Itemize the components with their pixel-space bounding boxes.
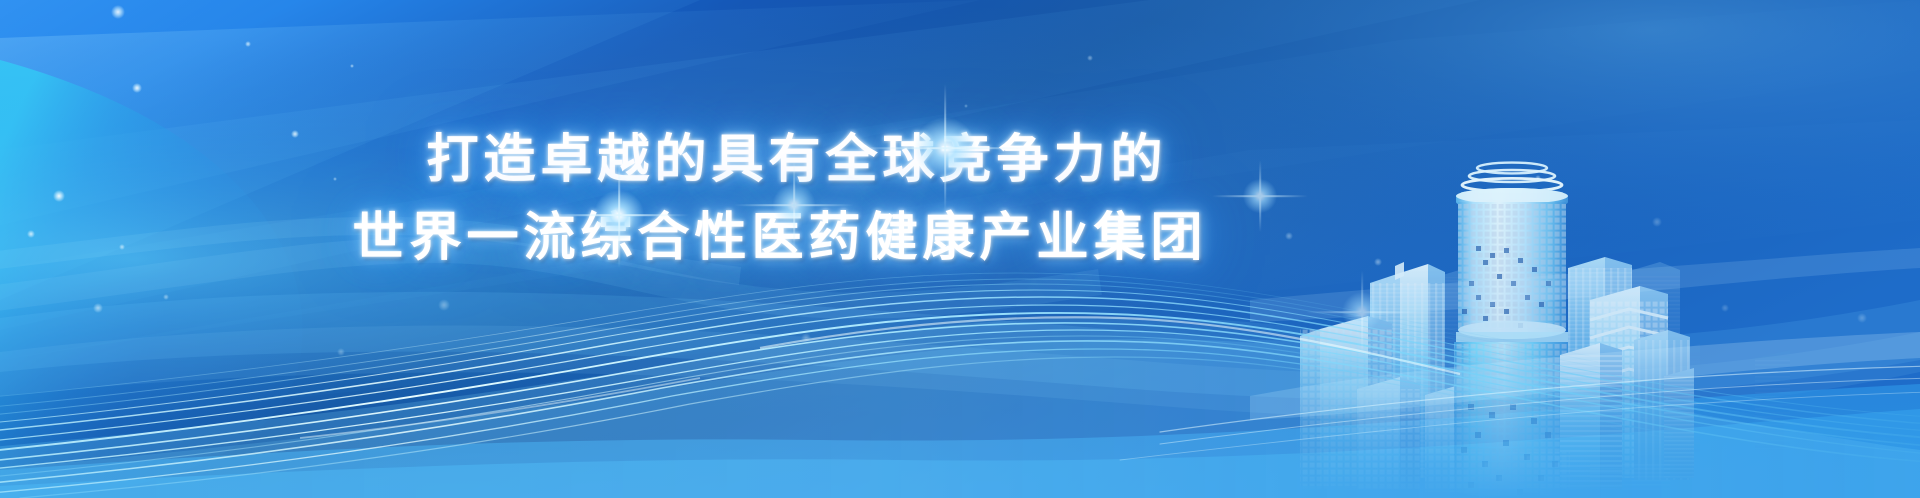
particle-dot	[1857, 313, 1867, 323]
particle-dot	[27, 230, 35, 238]
sparkle-between-lines-left	[584, 180, 654, 250]
particle-dot	[1374, 258, 1382, 266]
particle-dot	[53, 190, 65, 202]
particle-dot	[93, 303, 103, 313]
sparkle-line2-right	[1334, 284, 1390, 340]
sparkle-line1-top	[902, 105, 988, 191]
particle-dot	[1285, 232, 1293, 240]
particle-dot	[964, 104, 968, 108]
particle-dot	[337, 348, 345, 356]
particle-dot	[350, 64, 354, 68]
particle-dot	[1652, 217, 1662, 227]
particle-dot	[119, 244, 125, 250]
sparkle-line1-right	[1236, 172, 1284, 220]
hero-banner: 打造卓越的具有全球竞争力的 世界一流综合性医药健康产业集团	[0, 0, 1920, 498]
particle-dot	[801, 333, 811, 343]
particle-dot	[1087, 55, 1093, 61]
particle-dot	[245, 41, 251, 47]
particle-dot	[333, 177, 337, 181]
particle-dot	[132, 83, 142, 93]
particle-dot	[438, 299, 450, 311]
particle-dot	[163, 294, 169, 300]
particle-dot	[291, 130, 299, 138]
sparkle-line2-mid	[764, 175, 824, 235]
lens-flare-sparkles	[0, 0, 1920, 498]
particle-dot	[111, 5, 125, 19]
particle-dot	[1721, 304, 1729, 312]
particle-dot	[1535, 175, 1541, 181]
